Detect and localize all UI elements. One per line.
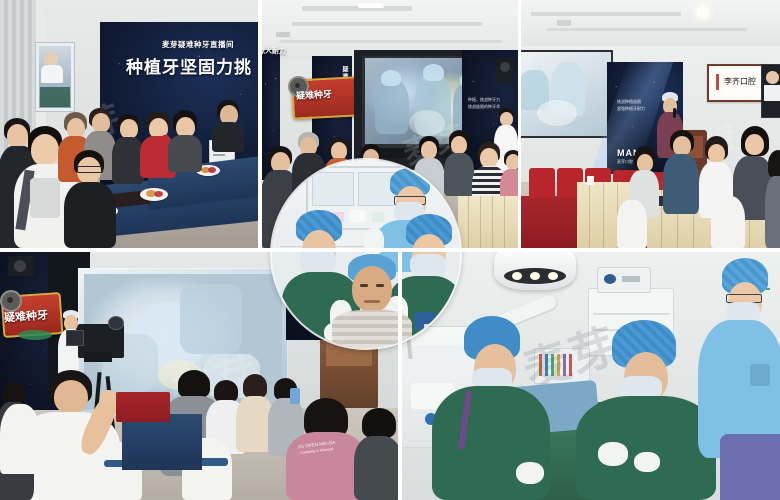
banner-headline: 种植牙坚固力挑: [126, 53, 252, 78]
side-banner-text: 种牙惊人耐力: [262, 46, 286, 56]
projector-screen: [521, 52, 611, 136]
side-table: [122, 414, 202, 470]
panel-speaker-presentation: 挑战种植极限超强种植牙耐力 MANY 麦芽口腔 麦芽 李齐口腔: [521, 0, 780, 248]
sign-ribbon: [18, 330, 52, 340]
dental-chair-back: [720, 434, 780, 500]
audience-person: [64, 150, 116, 248]
assistant-standing-right: [698, 258, 780, 458]
gutter-horizontal: [0, 248, 780, 252]
banner-subline: 麦芽疑难种牙直播间: [162, 39, 234, 50]
red-bench: [116, 392, 170, 422]
fruit-plate: [140, 188, 168, 201]
surgeon-center: [576, 320, 716, 500]
speaker-box: [496, 58, 514, 82]
dental-operating-light: [494, 252, 576, 290]
speaker-box: [8, 256, 34, 276]
banquet-chair: [711, 196, 745, 248]
equipment-box: [424, 324, 460, 348]
audience-person: [765, 150, 780, 248]
audience-person: [663, 130, 699, 214]
audience-person: [212, 100, 244, 152]
gown-badge: [750, 364, 770, 386]
panel-seminar-audience-left: 麦芽疑难种牙直播间 种植牙坚固力挑 麦芽: [0, 0, 258, 248]
wall-poster: [35, 42, 75, 112]
circular-inset-surgery-team: [272, 160, 460, 348]
photo-collage: 麦芽疑难种牙直播间 种植牙坚固力挑 麦芽: [0, 0, 780, 500]
banquet-chair: [617, 200, 647, 248]
video-camera: [78, 324, 124, 358]
microphone-icon: [673, 108, 676, 118]
wall-poster-right: [761, 64, 780, 118]
surgical-glove: [634, 452, 660, 472]
banquet-chair: [0, 404, 40, 474]
auditorium-seat: [529, 168, 555, 198]
gutter-vertical-3: [398, 252, 402, 500]
backdrop-text: 挑战种植极限超强种植牙耐力: [617, 98, 645, 112]
audience-person: [354, 408, 398, 500]
surgical-glove: [598, 442, 628, 466]
stage-sign-text: 疑难种牙: [3, 306, 48, 325]
audience-person: [168, 110, 202, 172]
surgical-glove: [516, 462, 544, 484]
ceiling: [521, 0, 780, 50]
gutter-vertical-2: [518, 0, 521, 250]
gutter-vertical-1: [258, 0, 262, 250]
water-cup: [587, 176, 594, 185]
wall-plaque-frame: 李齐口腔: [707, 64, 767, 102]
stage-sign-text: 疑难种牙: [296, 87, 333, 102]
wall-plaque-text: 李齐口腔: [724, 76, 756, 87]
side-table: [458, 196, 518, 248]
